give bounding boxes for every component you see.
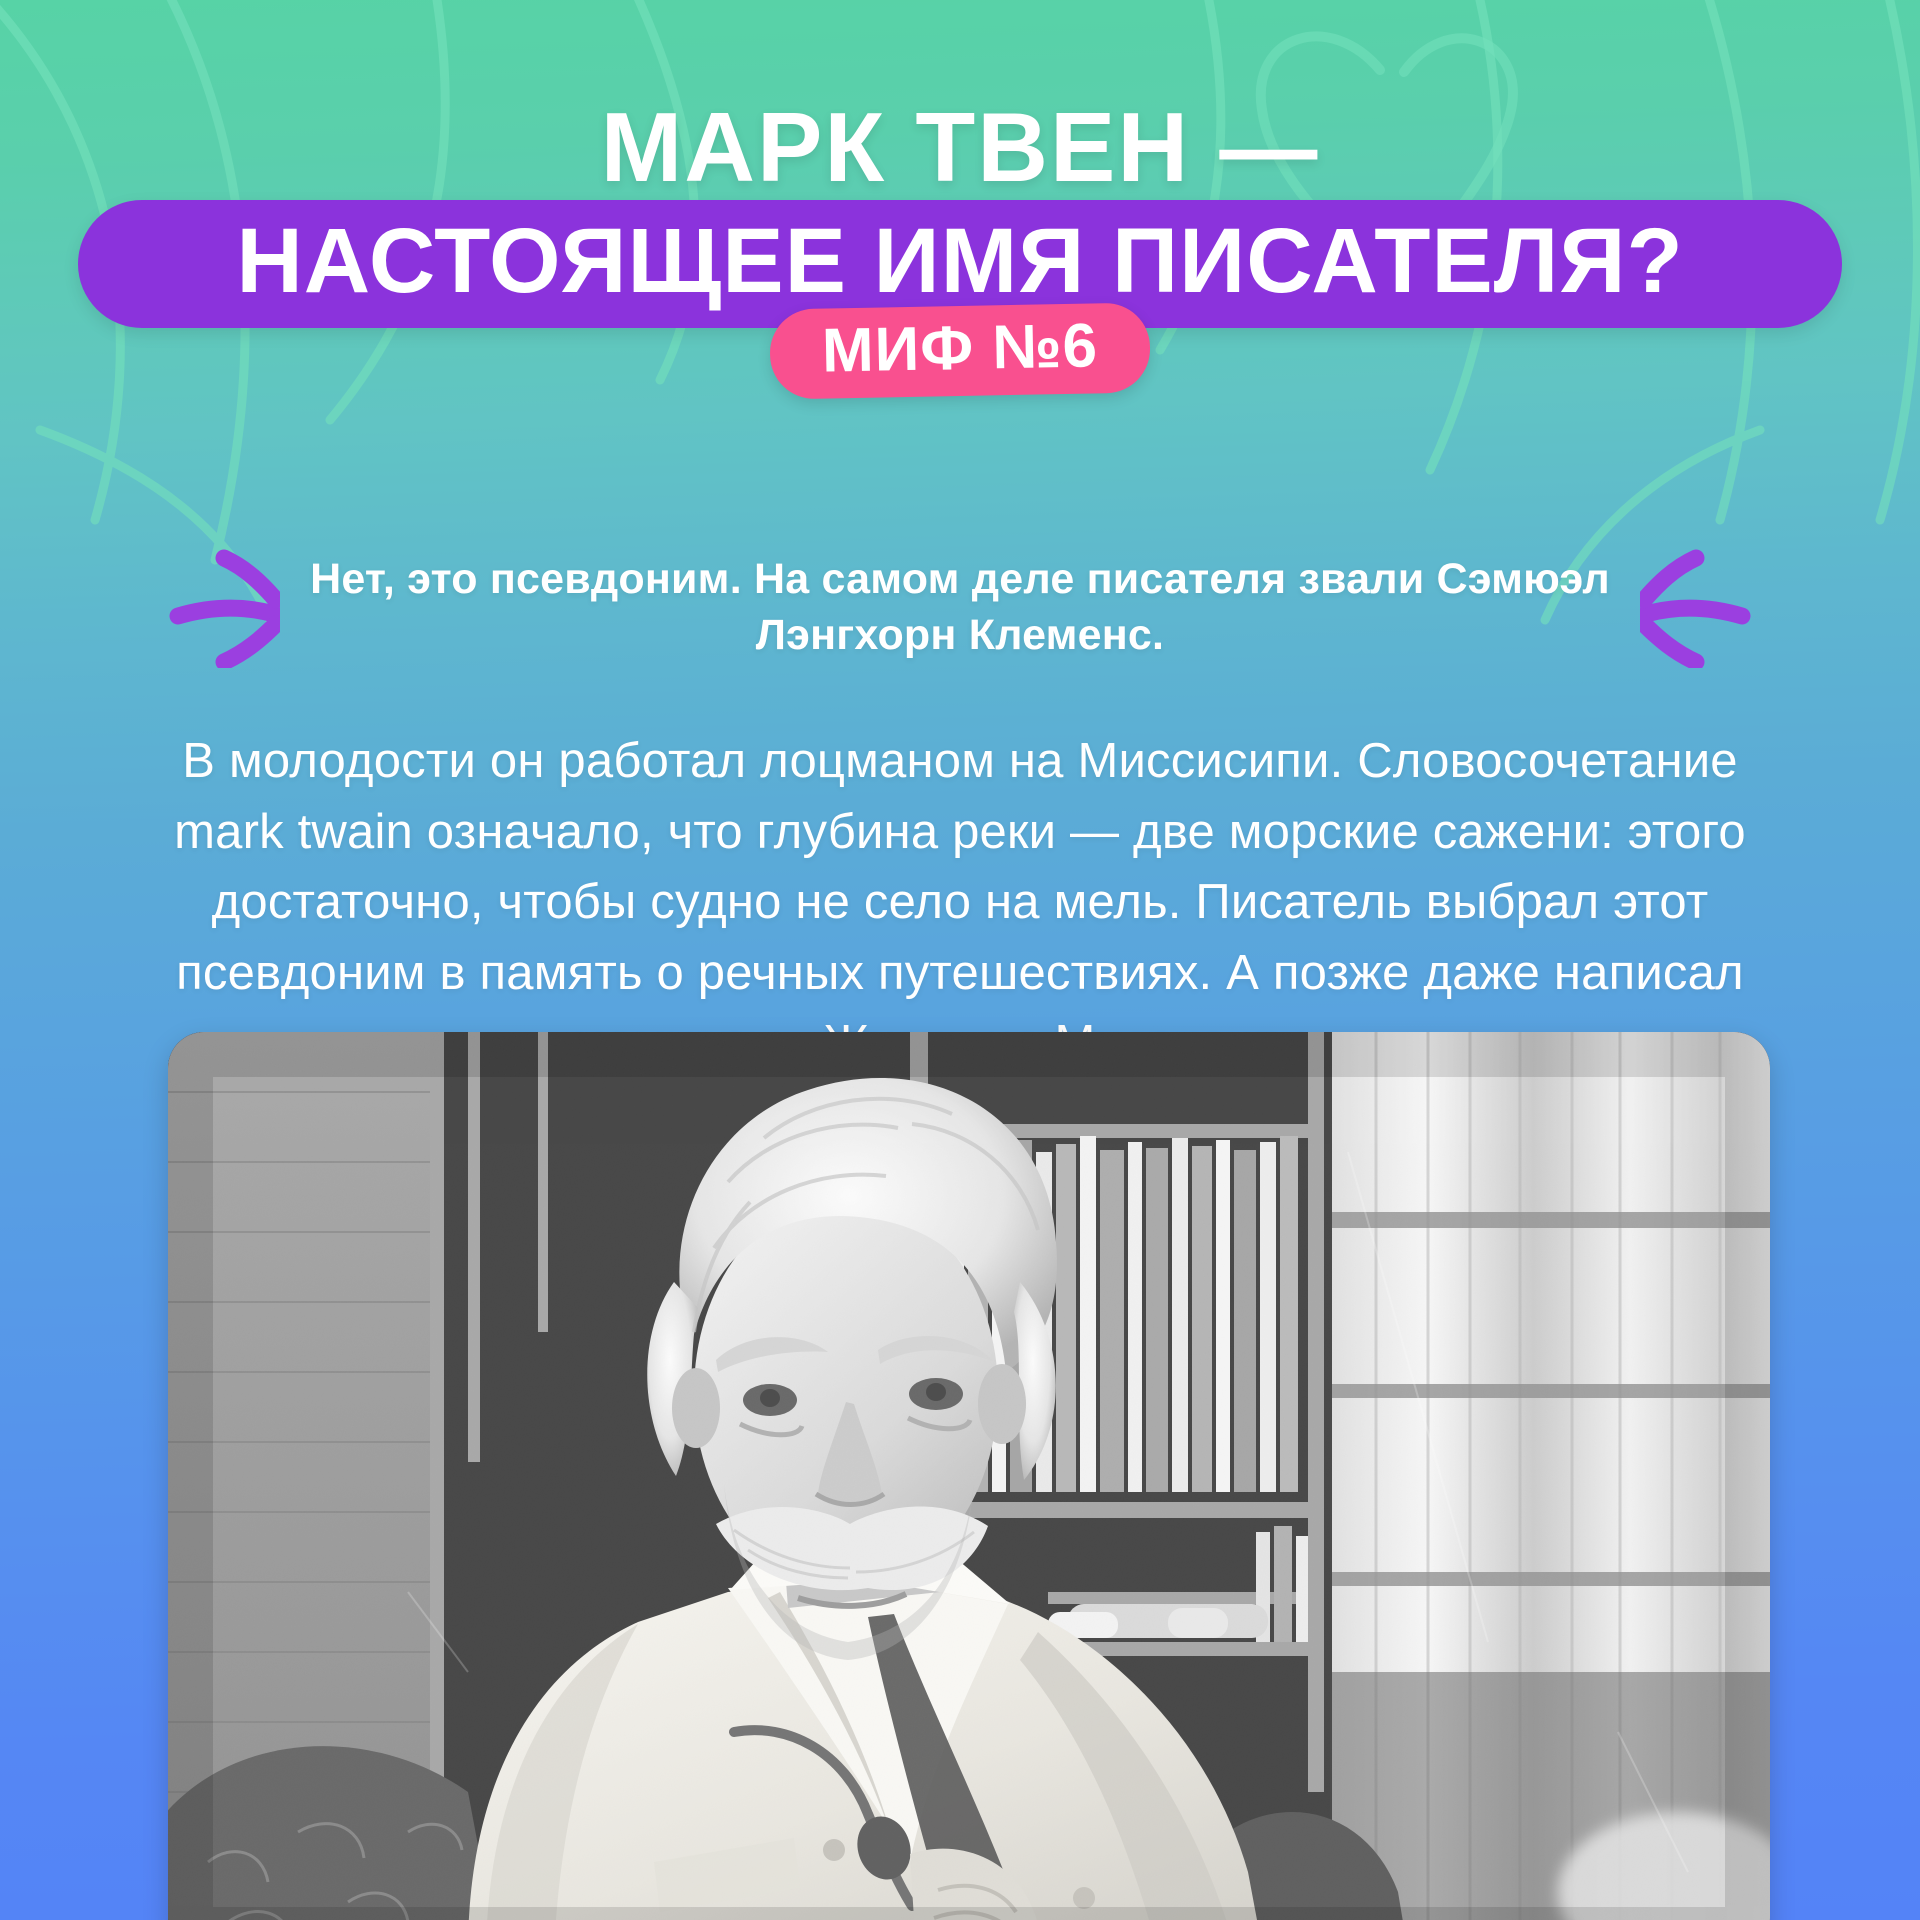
subtitle-text: Нет, это псевдоним. На самом деле писате… — [310, 552, 1610, 664]
mark-twain-photo — [168, 1032, 1770, 1920]
page-title-line1: МАРК ТВЕН — — [0, 96, 1920, 200]
arrow-left-doodle-icon — [1640, 548, 1770, 668]
poster-canvas: МАРК ТВЕН — НАСТОЯЩЕЕ ИМЯ ПИСАТЕЛЯ? МИФ … — [0, 0, 1920, 1920]
myth-number-badge-label: МИФ №6 — [821, 311, 1098, 385]
arrow-right-doodle-icon — [150, 548, 280, 668]
myth-number-badge: МИФ №6 — [769, 302, 1151, 399]
page-title-line2: НАСТОЯЩЕЕ ИМЯ ПИСАТЕЛЯ? — [236, 209, 1683, 314]
subtitle-row: Нет, это псевдоним. На самом деле писате… — [0, 548, 1920, 668]
mark-twain-photo-illustration — [168, 1032, 1770, 1920]
body-paragraph: В молодости он работал лоцманом на Мисси… — [170, 726, 1750, 1079]
